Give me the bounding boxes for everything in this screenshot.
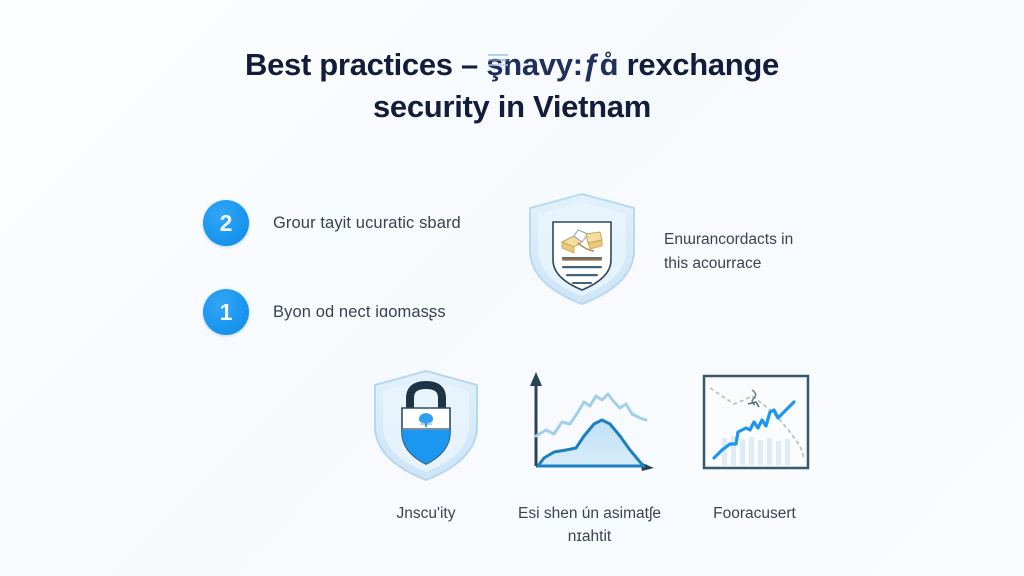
shield-padlock-icon bbox=[360, 366, 492, 489]
numbered-list: 2 Grour taуit ucuratic sbard 1 Byon od n… bbox=[203, 195, 503, 373]
icon-row: Jnscu'ity bbox=[350, 366, 850, 548]
list-item-label: Grour taуit ucuratic sbard bbox=[273, 214, 461, 233]
title-glitch-artifact: şnavy:ƒɑ̊ bbox=[486, 46, 618, 84]
forecast-line-chart-icon bbox=[692, 366, 818, 489]
page-title: Best practices – şnavy:ƒɑ̊ rexchange sec… bbox=[0, 46, 1024, 126]
feature-forecast[interactable]: Fooracusert bbox=[677, 366, 832, 525]
feature-forecast-caption-text: Fooracusert bbox=[713, 505, 796, 522]
feature-security[interactable]: Jnscu'ity bbox=[350, 366, 502, 525]
feature-security-caption: Jnscu'ity bbox=[397, 502, 456, 525]
step-number-badge: 1 bbox=[203, 289, 249, 335]
title-line-2: security in Vietnam bbox=[0, 88, 1024, 126]
feature-analytics-caption: Esi shen ún asimatʃe nɪahtit bbox=[518, 502, 661, 548]
title-line-1-prefix: Best practices – bbox=[245, 47, 486, 82]
title-line-1-suffix: rexchange bbox=[618, 47, 779, 82]
feature-analytics[interactable]: Esi shen ún asimatʃe nɪahtit bbox=[502, 366, 677, 548]
step-number-badge: 2 bbox=[203, 200, 249, 246]
title-line-1: Best practices – şnavy:ƒɑ̊ rexchange bbox=[0, 46, 1024, 84]
list-item-label: Byon od nect iɑomasʂs bbox=[273, 303, 446, 322]
document-shield-group: Enɯrancordacts in this acourrace bbox=[516, 188, 824, 313]
document-shield-caption: Enɯrancordacts in this acourrace bbox=[664, 228, 824, 276]
feature-analytics-caption-line-2: nɪahtit bbox=[518, 525, 661, 548]
feature-analytics-caption-line-1: Esi shen ún asimatʃe bbox=[518, 502, 661, 525]
list-item[interactable]: 2 Grour taуit ucuratic sbard bbox=[203, 195, 503, 251]
feature-security-caption-text: Jnscu'ity bbox=[397, 505, 456, 522]
feature-forecast-caption: Fooracusert bbox=[713, 502, 796, 525]
document-shield-caption-line-2: this acourrace bbox=[664, 252, 824, 276]
document-shield-caption-line-1: Enɯrancordacts in bbox=[664, 228, 824, 252]
infographic-canvas: Best practices – şnavy:ƒɑ̊ rexchange sec… bbox=[0, 0, 1024, 576]
shield-document-icon bbox=[516, 188, 648, 313]
list-item[interactable]: 1 Byon od nect iɑomasʂs bbox=[203, 284, 503, 340]
area-chart-icon bbox=[514, 366, 666, 489]
